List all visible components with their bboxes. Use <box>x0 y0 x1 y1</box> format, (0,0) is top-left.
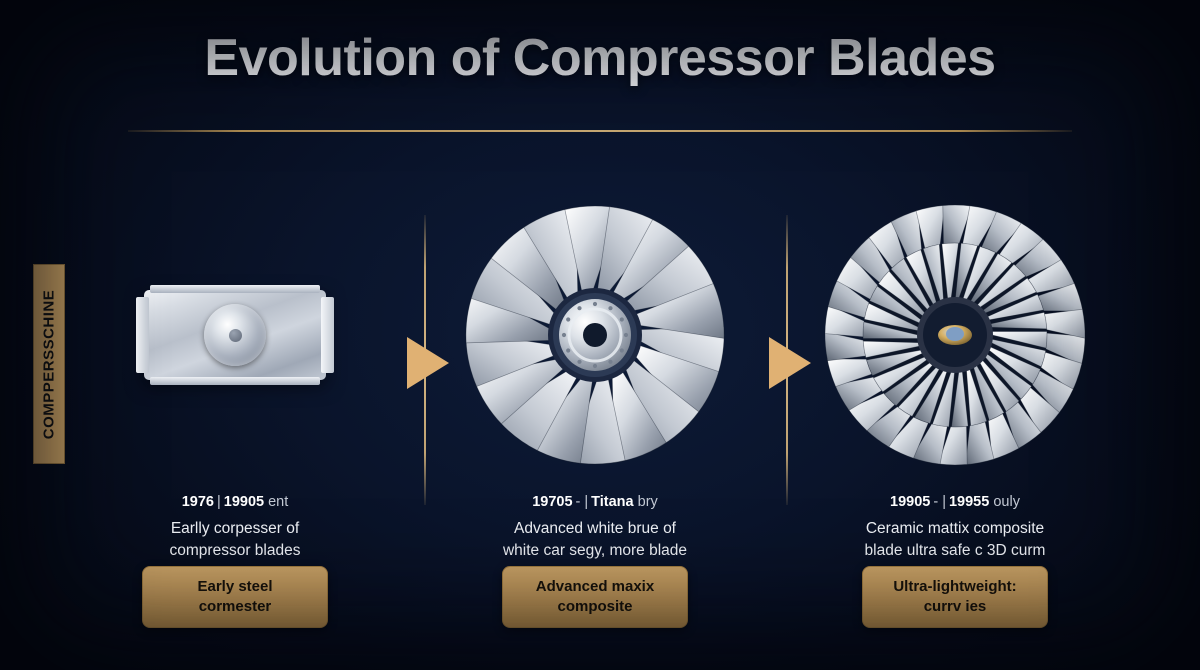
vertical-side-label-text: COMPPERSSCHINE <box>41 289 58 439</box>
stage-3-years: 19905- |19955 ouly <box>805 494 1105 510</box>
plate-center-hub <box>204 304 266 366</box>
wide-blade-turbine-fan-icon <box>464 204 726 466</box>
stage-2-years: 19705- |Titana bry <box>445 494 745 510</box>
stage-2-artwork <box>445 190 745 480</box>
vertical-side-label: COMPPERSSCHINE <box>33 264 65 464</box>
infographic-canvas: Evolution of Compressor Blades COMPPERSS… <box>0 0 1200 670</box>
right-arrow-icon <box>407 337 449 389</box>
stage-3-year-tail: ouly <box>993 494 1020 510</box>
stage-3-year-end: 19955 <box>949 494 989 510</box>
stage-2-year-tail: bry <box>638 494 658 510</box>
stage-1-description-line2: compressor blades <box>85 540 385 562</box>
stage-2-badge-line1: Advanced maxix <box>536 577 654 597</box>
stage-1-badge[interactable]: Early steel cormester <box>142 566 328 628</box>
stage-3-year-separator: - | <box>930 494 949 510</box>
page-title: Evolution of Compressor Blades <box>0 28 1200 88</box>
stage-1-year-start: 1976 <box>182 494 214 510</box>
plate-left-rail <box>136 297 149 373</box>
stage-3-year-start: 19905 <box>890 494 930 510</box>
stage-2-year-end: Titana <box>591 494 633 510</box>
stage-1-description-line1: Earlly corpesser of <box>85 518 385 540</box>
stage-3-description-line2: blade ultra safe c 3D curm <box>805 540 1105 562</box>
stage-1-badge-line1: Early steel <box>197 577 272 597</box>
title-divider <box>128 130 1072 132</box>
stage-2-year-separator: - | <box>573 494 592 510</box>
plate-right-rail <box>321 297 334 373</box>
stage-3-artwork <box>805 190 1105 480</box>
stage-2-description-line2: white car segy, more blade <box>445 540 745 562</box>
stage-1-artwork <box>85 190 385 480</box>
stage-1-description: Earlly corpesser of compressor blades <box>85 518 385 562</box>
stage-2-year-start: 19705 <box>532 494 572 510</box>
stage-3-description: Ceramic mattix composite blade ultra saf… <box>805 518 1105 562</box>
stage-3-badge-line1: Ultra-lightweight: <box>893 577 1016 597</box>
stage-2-description: Advanced white brue of white car segy, m… <box>445 518 745 562</box>
stage-1-year-end: 19905 <box>224 494 264 510</box>
stage-3-badge-line2: currv ies <box>893 597 1016 617</box>
stage-2-badge-line2: composite <box>536 597 654 617</box>
stage-1-years: 1976|19905 ent <box>85 494 385 510</box>
steel-blade-plate-icon <box>144 290 326 380</box>
stage-1-year-separator: | <box>214 494 224 510</box>
stage-1-badge-line2: cormester <box>197 597 272 617</box>
stage-3-badge[interactable]: Ultra-lightweight: currv ies <box>862 566 1048 628</box>
multi-blade-ceramic-fan-icon <box>824 204 1086 466</box>
stage-1-year-tail: ent <box>268 494 288 510</box>
stage-2-description-line1: Advanced white brue of <box>445 518 745 540</box>
stage-3-description-line1: Ceramic mattix composite <box>805 518 1105 540</box>
stage-2-badge[interactable]: Advanced maxix composite <box>502 566 688 628</box>
